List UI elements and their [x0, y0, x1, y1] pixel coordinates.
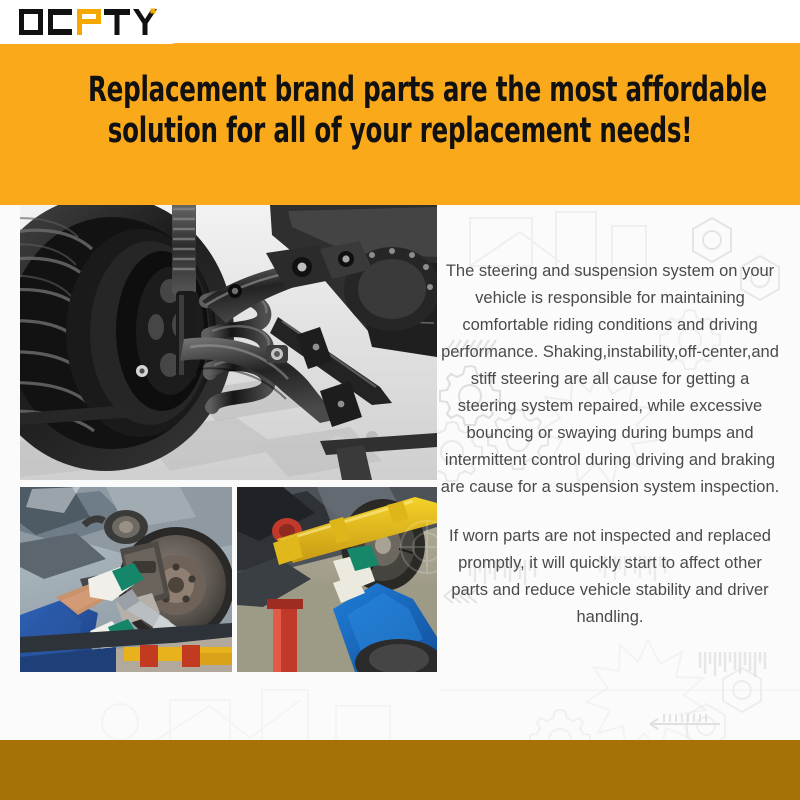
body-paragraph-2: If worn parts are not inspected and repl…	[440, 523, 780, 631]
suspension-assembly-photo	[20, 205, 437, 480]
under-vehicle-service-image	[237, 487, 437, 672]
brand-logo[interactable]	[0, 0, 186, 44]
brake-service-photo	[20, 487, 232, 672]
brake-service-image	[20, 487, 232, 672]
page-headline: Replacement brand parts are the most aff…	[88, 70, 712, 152]
body-copy: The steering and suspension system on yo…	[440, 258, 780, 631]
headline-line-1: Replacement brand parts are the most aff…	[88, 70, 712, 111]
headline-line-2: solution for all of your replacement nee…	[88, 111, 712, 152]
body-paragraph-1: The steering and suspension system on yo…	[440, 258, 780, 501]
under-vehicle-service-photo	[237, 487, 437, 672]
suspension-assembly-image	[20, 205, 437, 480]
ocpty-logo-icon	[19, 7, 167, 37]
footer-bar	[0, 740, 800, 800]
